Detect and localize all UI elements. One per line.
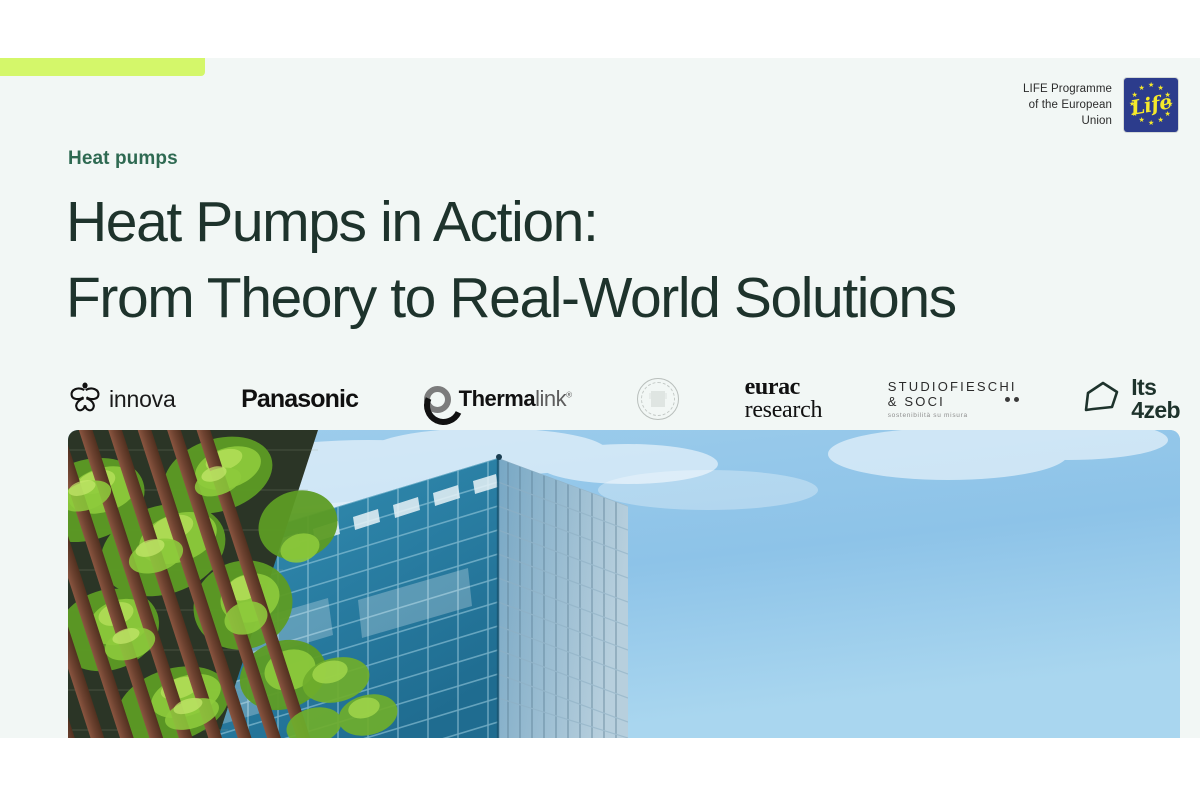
partner-logo-its4zeb-label: Its 4zeb	[1131, 376, 1180, 423]
eu-star-icon: ★	[1164, 93, 1170, 99]
partner-logo-its4zeb: Its 4zeb	[1082, 376, 1180, 423]
university-seal-core	[647, 388, 669, 410]
partner-logo-panasonic: Panasonic	[241, 385, 358, 414]
eu-star-icon: ★	[1158, 118, 1164, 124]
slide-root: LIFE Programme of the European Union Lif…	[0, 0, 1200, 800]
thermalink-bold: Therma	[459, 386, 535, 411]
life-programme-logo: LIFE Programme of the European Union Lif…	[1023, 78, 1178, 132]
eu-star-icon: ★	[1164, 112, 1170, 118]
university-seal-icon	[637, 378, 679, 420]
partner-logo-innova: innova	[68, 380, 176, 419]
eu-star-icon: ★	[1148, 121, 1154, 127]
life-programme-text: LIFE Programme of the European Union	[1023, 81, 1112, 130]
its4zeb-line-2: 4zeb	[1131, 399, 1180, 422]
partner-logo-innova-label: innova	[109, 386, 176, 413]
thermalink-light: link	[535, 386, 566, 411]
hero-photo	[68, 430, 1180, 738]
page-title-line-1: Heat Pumps in Action:	[66, 185, 1156, 261]
partner-logo-studiofieschi-tagline: sostenibilità su misura	[888, 412, 968, 419]
accent-bar	[0, 58, 205, 76]
eu-star-icon: ★	[1167, 102, 1173, 108]
page-eyebrow: Heat pumps	[68, 148, 178, 170]
eu-star-icon: ★	[1129, 102, 1135, 108]
page-title-line-2: From Theory to Real-World Solutions	[66, 261, 1156, 337]
life-line-2: of the European	[1023, 97, 1112, 113]
partner-logo-university	[637, 378, 679, 420]
partner-logo-eurac: eurac research	[745, 376, 823, 422]
partner-logo-thermalink: Thermalink®	[424, 386, 572, 413]
page-title: Heat Pumps in Action: From Theory to Rea…	[66, 185, 1156, 337]
hero-photo-illustration	[68, 430, 1180, 738]
partner-logo-strip: innova Panasonic Thermalink® eurac resea…	[68, 372, 1180, 426]
eu-star-icon: ★	[1132, 93, 1138, 99]
its4zeb-line-1: Its	[1131, 376, 1180, 399]
butterfly-icon	[68, 380, 102, 419]
partner-logo-panasonic-label: Panasonic	[241, 385, 358, 414]
life-line-3: Union	[1023, 113, 1112, 129]
ring-icon	[424, 386, 451, 413]
house-outline-icon	[1082, 380, 1122, 419]
eu-flag-life-icon: Life ★★★★★★★★★★★★	[1124, 78, 1178, 132]
eu-star-icon: ★	[1148, 83, 1154, 89]
thermalink-trademark: ®	[566, 391, 571, 400]
partner-logo-thermalink-label: Thermalink®	[459, 386, 572, 412]
partner-logo-studiofieschi: STUDIOFIESCHI & SOCI sostenibilità su mi…	[888, 379, 1017, 420]
partner-logo-studiofieschi-line-1: STUDIOFIESCHI	[888, 379, 1017, 394]
life-line-1: LIFE Programme	[1023, 81, 1112, 97]
partner-logo-studiofieschi-line-2: & SOCI	[888, 394, 945, 409]
eu-star-icon: ★	[1132, 112, 1138, 118]
partner-logo-eurac-line-1: eurac	[745, 376, 800, 399]
partner-logo-eurac-line-2: research	[745, 399, 823, 422]
eu-star-icon: ★	[1139, 118, 1145, 124]
two-dots-icon	[1005, 397, 1019, 402]
eu-star-icon: ★	[1139, 86, 1145, 92]
eu-star-icon: ★	[1158, 86, 1164, 92]
